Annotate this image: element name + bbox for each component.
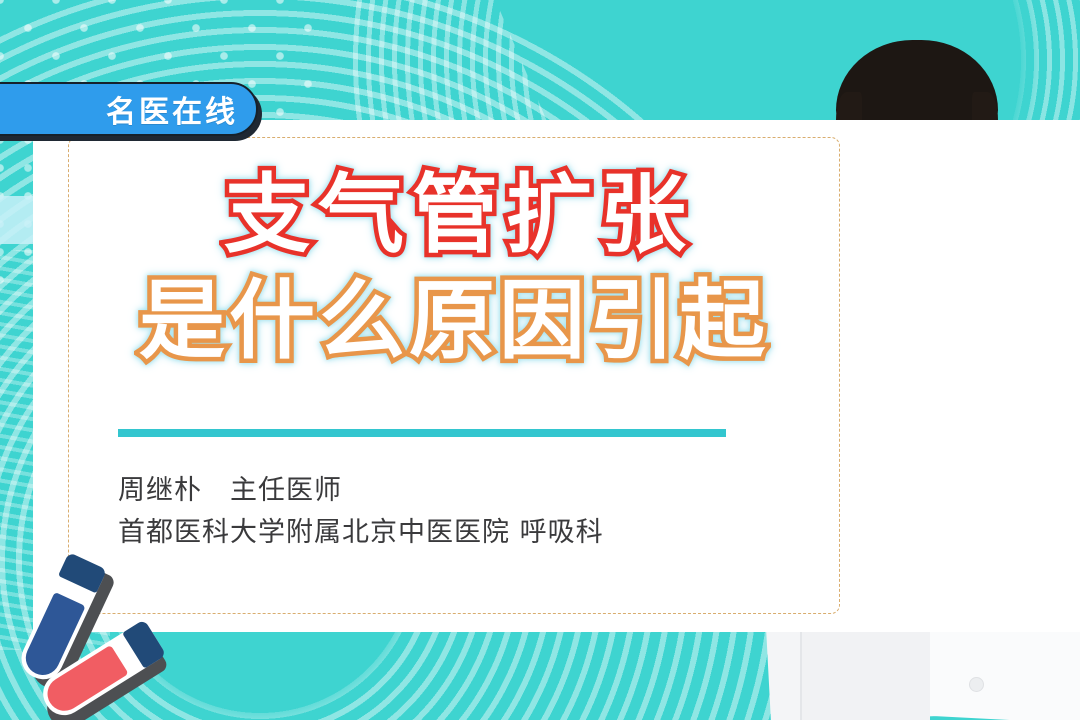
title-line-1: 支气管扩张	[68, 172, 840, 258]
badge-ming-yi-zai-xian[interactable]: 名医在线	[0, 82, 258, 136]
doctor-name-line: 周继朴 主任医师	[118, 470, 604, 512]
cover-canvas: 支气管扩张 是什么原因引起 周继朴 主任医师 首都医科大学附属北京中医医院 呼吸…	[0, 0, 1080, 720]
doctor-affiliation-line: 首都医科大学附属北京中医医院 呼吸科	[118, 512, 604, 554]
section-divider	[118, 429, 726, 437]
badge-label: 名医在线	[106, 87, 238, 131]
title-line-2: 是什么原因引起	[68, 278, 840, 364]
title-block: 支气管扩张 是什么原因引起	[68, 150, 840, 364]
doctor-info-block: 周继朴 主任医师 首都医科大学附属北京中医医院 呼吸科	[118, 470, 604, 554]
coat-button-lower	[970, 678, 983, 691]
test-tubes-decoration	[10, 555, 180, 720]
